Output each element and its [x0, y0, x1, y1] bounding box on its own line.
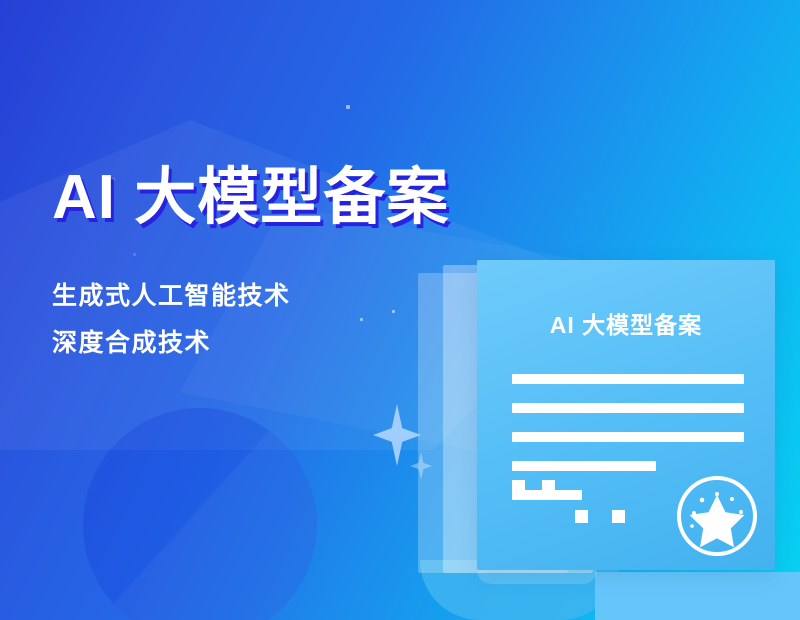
promo-banner: AI 大模型备案 生成式人工智能技术 深度合成技术 AI 大模型备案: [0, 0, 800, 620]
subtitle-line-1: 生成式人工智能技术: [52, 273, 572, 320]
document-square: [612, 510, 625, 523]
document-line: [512, 461, 656, 471]
background-circle-sheen: [83, 408, 317, 620]
document-line: [512, 432, 744, 442]
headline-block: AI 大模型备案 生成式人工智能技术 深度合成技术: [52, 166, 572, 366]
document-line: [512, 403, 744, 413]
four-point-sparkle-icon: [373, 404, 421, 466]
document-line: [512, 374, 744, 384]
subtitle-block: 生成式人工智能技术 深度合成技术: [52, 273, 572, 366]
document-square: [512, 480, 525, 493]
subtitle-line-2: 深度合成技术: [52, 320, 572, 367]
decorative-dot: [346, 105, 350, 109]
star-seal-icon: [674, 473, 760, 559]
document-square: [575, 510, 588, 523]
page-title: AI 大模型备案: [52, 166, 572, 229]
background-light-band: [595, 572, 800, 620]
document-sheet-foot: [477, 570, 597, 584]
document-square: [542, 480, 555, 493]
background-circle: [83, 408, 317, 620]
